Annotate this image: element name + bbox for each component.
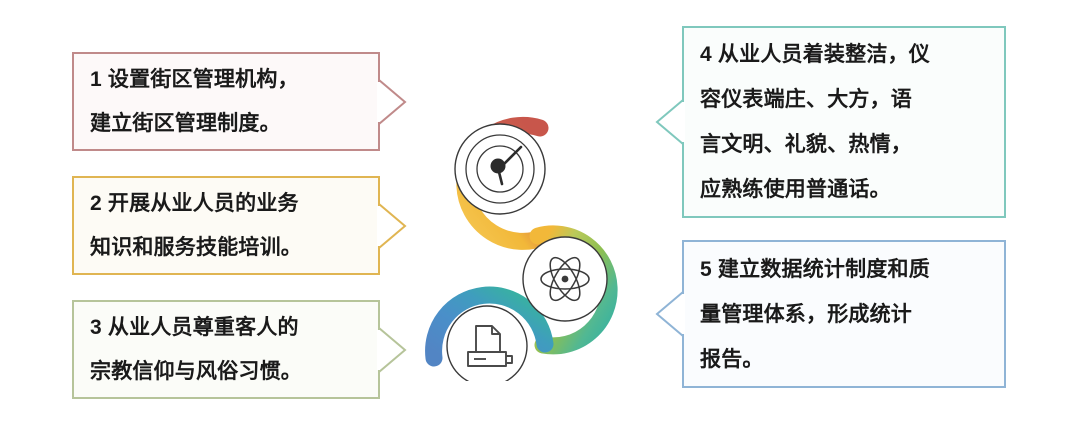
callout-body-1: 1 设置街区管理机构， 建立街区管理制度。: [72, 52, 380, 151]
callout-item-2[interactable]: 2 开展从业人员的业务 知识和服务技能培训。: [72, 176, 380, 275]
callout-body-4: 4 从业人员着装整洁，仪 容仪表端庄、大方，语 言文明、礼貌、热情， 应熟练使用…: [682, 26, 1006, 218]
callout-text-3: 3 从业人员尊重客人的 宗教信仰与风俗习惯。: [90, 306, 364, 394]
callout-body-2: 2 开展从业人员的业务 知识和服务技能培训。: [72, 176, 380, 275]
notch-mask-1: [377, 82, 381, 122]
notch-mask-2: [377, 206, 381, 246]
node-target[interactable]: [455, 124, 545, 214]
callout-item-4[interactable]: 4 从业人员着装整洁，仪 容仪表端庄、大方，语 言文明、礼貌、热情， 应熟练使用…: [682, 26, 1006, 218]
notch-mask-3: [377, 330, 381, 370]
node-printer[interactable]: [447, 306, 527, 381]
callout-text-2: 2 开展从业人员的业务 知识和服务技能培训。: [90, 182, 364, 270]
callout-notch-2: [378, 203, 408, 249]
callout-item-3[interactable]: 3 从业人员尊重客人的 宗教信仰与风俗习惯。: [72, 300, 380, 399]
callout-text-5: 5 建立数据统计制度和质 量管理体系，形成统计 报告。: [700, 247, 990, 382]
callout-body-3: 3 从业人员尊重客人的 宗教信仰与风俗习惯。: [72, 300, 380, 399]
callout-body-5: 5 建立数据统计制度和质 量管理体系，形成统计 报告。: [682, 240, 1006, 388]
notch-mask-5: [681, 294, 685, 334]
diagram-canvas: 1 设置街区管理机构， 建立街区管理制度。 2 开展从业人员的业务 知识和服务技…: [0, 0, 1080, 439]
printer-outer-ring: [447, 306, 527, 381]
callout-notch-3: [378, 327, 408, 373]
notch-mask-4: [681, 102, 685, 142]
callout-text-1: 1 设置街区管理机构， 建立街区管理制度。: [90, 58, 364, 146]
callout-item-5[interactable]: 5 建立数据统计制度和质 量管理体系，形成统计 报告。: [682, 240, 1006, 388]
swirl-svg: [412, 96, 672, 381]
callout-notch-1: [378, 79, 408, 125]
callout-item-1[interactable]: 1 设置街区管理机构， 建立街区管理制度。: [72, 52, 380, 151]
node-atom[interactable]: [523, 237, 607, 321]
callout-text-4: 4 从业人员着装整洁，仪 容仪表端庄、大方，语 言文明、礼貌、热情， 应熟练使用…: [700, 32, 990, 212]
center-swirl-graphic: [412, 96, 672, 381]
